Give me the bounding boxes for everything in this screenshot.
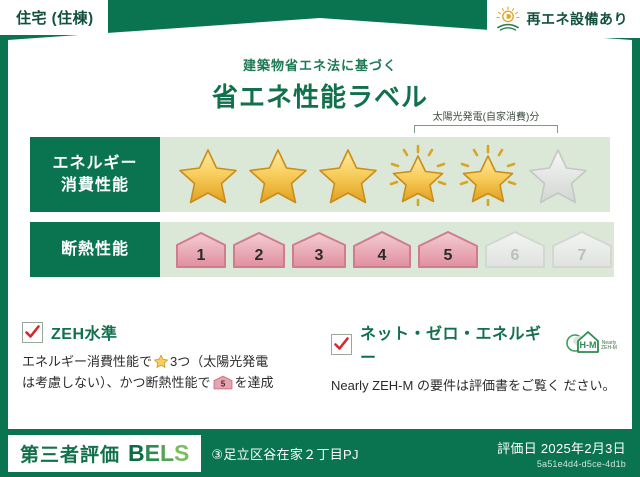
insulation-badge-6: 6: [483, 230, 547, 270]
check-icon: [334, 337, 349, 352]
svg-text:ZEH-M: ZEH-M: [601, 345, 617, 351]
energy-performance-row: エネルギー 消費性能 太陽光発電(自家消費)分: [30, 137, 610, 212]
star-icon-3: [314, 144, 382, 206]
evaluation-uuid: 5a51e4d4-d5ce-4d1b: [497, 459, 626, 469]
insulation-badge-2-value: 2: [231, 247, 287, 265]
nzeb-checkbox[interactable]: [331, 334, 352, 355]
insulation-badge-6-value: 6: [483, 247, 547, 265]
insulation-badge-3-value: 3: [290, 247, 348, 265]
solar-sun-icon: [495, 6, 521, 32]
building-type-tag-label: 住宅 (住棟): [16, 10, 94, 27]
label-title-block: 建築物省エネ法に基づく 省エネ性能ラベル: [0, 55, 640, 114]
star-rating: [174, 144, 592, 206]
star-icon-5-solar: [454, 144, 522, 206]
solar-range-bracket: [414, 125, 558, 133]
energy-performance-row-label: エネルギー 消費性能: [30, 137, 160, 212]
criteria-zeh-text-1: エネルギー消費性能で: [22, 354, 152, 369]
criteria-zeh-body: エネルギー消費性能で3つ（太陽光発電は考慮しない）、かつ断熱性能で5を達成: [22, 351, 313, 397]
inline-insulation-badge: 5: [213, 375, 233, 396]
energy-performance-label: 住宅 (住棟) 再エネ設備あり 建: [0, 0, 640, 477]
insulation-badge-4: 4: [351, 230, 413, 270]
insulation-label: 断熱性能: [61, 239, 129, 261]
insulation-level-badges: 1 2 3: [174, 230, 614, 270]
insulation-badge-3: 3: [290, 230, 348, 270]
rating-rows: エネルギー 消費性能 太陽光発電(自家消費)分: [30, 137, 610, 277]
bels-letter-s: S: [174, 440, 189, 466]
bels-evaluation-box: 第三者評価 BELS: [8, 435, 201, 472]
label-title: 省エネ性能ラベル: [0, 77, 640, 114]
svg-text:H-M: H-M: [580, 340, 597, 350]
insulation-badge-5: 5: [416, 230, 480, 270]
insulation-performance-row: 断熱性能: [30, 222, 610, 277]
check-icon: [25, 325, 40, 340]
evaluation-meta: 評価日 2025年2月3日 5a51e4d4-d5ce-4d1b: [497, 438, 626, 469]
zeh-checkbox[interactable]: [22, 322, 43, 343]
criteria-section: ZEH水準 エネルギー消費性能で3つ（太陽光発電は考慮しない）、かつ断熱性能で5…: [22, 320, 622, 397]
insulation-performance-row-label: 断熱性能: [30, 222, 160, 277]
energy-performance-stars-area: 太陽光発電(自家消費)分: [160, 137, 610, 212]
evaluation-date: 評価日 2025年2月3日: [497, 438, 626, 457]
insulation-badge-2: 2: [231, 230, 287, 270]
bels-letter-l: L: [160, 440, 174, 466]
insulation-badge-4-value: 4: [351, 247, 413, 265]
criteria-zeh-title: ZEH水準: [51, 320, 118, 344]
star-icon-6-empty: [524, 144, 592, 206]
footer-bar: 第三者評価 BELS ③足立区谷在家２丁目PJ 評価日 2025年2月3日 5a…: [0, 429, 640, 477]
criteria-zeh-text-2: 3つ（太陽光発電: [170, 354, 268, 369]
insulation-badge-1: 1: [174, 230, 228, 270]
label-subtitle: 建築物省エネ法に基づく: [0, 55, 640, 74]
star-icon-2: [244, 144, 312, 206]
inline-star-icon: [153, 353, 169, 369]
renewable-energy-badge: 再エネ設備あり: [487, 0, 640, 38]
bels-jp-label: 第三者評価: [20, 440, 120, 467]
insulation-badge-7: 7: [550, 230, 614, 270]
insulation-levels-area: 1 2 3: [160, 222, 614, 277]
criteria-zeh-text-3: は考慮しない）、かつ断熱性能で: [22, 375, 211, 390]
renewable-energy-badge-label: 再エネ設備あり: [527, 9, 629, 29]
bels-letter-e: E: [145, 440, 160, 466]
insulation-badge-7-value: 7: [550, 247, 614, 265]
criteria-nzeb: ネット・ゼロ・エネルギー H-M Nearly ZEH-M Nearly ZEH…: [331, 320, 622, 397]
insulation-badge-1-value: 1: [174, 247, 228, 265]
svg-text:5: 5: [220, 380, 225, 389]
bels-letter-b: B: [128, 440, 145, 466]
star-icon-1: [174, 144, 242, 206]
building-type-tag: 住宅 (住棟): [0, 0, 108, 35]
bels-wordmark: BELS: [128, 440, 189, 467]
energy-label-line2: 消費性能: [61, 175, 129, 197]
insulation-badge-5-value: 5: [416, 247, 480, 265]
criteria-nzeb-title: ネット・ゼロ・エネルギー: [360, 320, 554, 368]
property-address: ③足立区谷在家２丁目PJ: [211, 444, 358, 463]
criteria-zeh-text-4: を達成: [235, 375, 274, 390]
star-icon-4-solar: [384, 144, 452, 206]
criteria-nzeb-body: Nearly ZEH-M の要件は評価書をご覧く ださい。: [331, 375, 622, 396]
energy-label-line1: エネルギー: [52, 153, 137, 175]
criteria-zeh: ZEH水準 エネルギー消費性能で3つ（太陽光発電は考慮しない）、かつ断熱性能で5…: [22, 320, 313, 397]
zeh-m-logo-icon: H-M Nearly ZEH-M: [564, 329, 622, 360]
criteria-nzeb-header: ネット・ゼロ・エネルギー H-M Nearly ZEH-M: [331, 320, 622, 368]
criteria-zeh-header: ZEH水準: [22, 320, 313, 344]
